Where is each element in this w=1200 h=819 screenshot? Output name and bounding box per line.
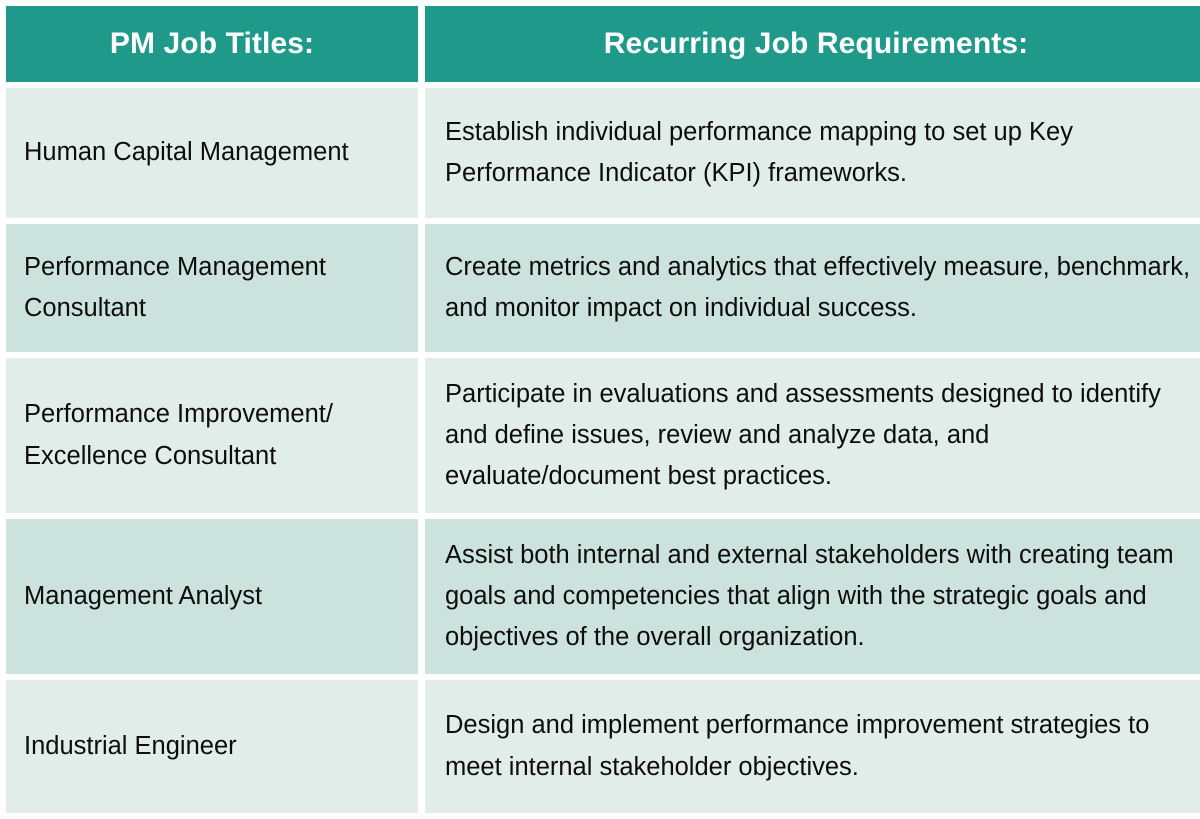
table-body: Human Capital Management Establish indiv… (6, 88, 1200, 813)
table-row: Human Capital Management Establish indiv… (6, 88, 1200, 218)
cell-job-requirement: Establish individual performance mapping… (425, 88, 1200, 218)
column-header-job-titles: PM Job Titles: (6, 6, 418, 82)
job-requirements-table-container: PM Job Titles: Recurring Job Requirement… (0, 0, 1200, 804)
cell-job-title: Performance Management Consultant (6, 224, 418, 352)
table-row: Management Analyst Assist both internal … (6, 519, 1200, 674)
cell-job-requirement: Assist both internal and external stakeh… (425, 519, 1200, 674)
cell-job-title: Performance Improvement/ Excellence Cons… (6, 358, 418, 513)
cell-job-title: Human Capital Management (6, 88, 418, 218)
cell-job-title: Management Analyst (6, 519, 418, 674)
cell-job-requirement: Design and implement performance improve… (425, 680, 1200, 813)
cell-job-requirement: Create metrics and analytics that effect… (425, 224, 1200, 352)
cell-job-title: Industrial Engineer (6, 680, 418, 813)
table-row: Performance Improvement/ Excellence Cons… (6, 358, 1200, 513)
table-header-row: PM Job Titles: Recurring Job Requirement… (6, 6, 1200, 82)
table-row: Performance Management Consultant Create… (6, 224, 1200, 352)
job-requirements-table: PM Job Titles: Recurring Job Requirement… (0, 0, 1200, 819)
cell-job-requirement: Participate in evaluations and assessmen… (425, 358, 1200, 513)
table-row: Industrial Engineer Design and implement… (6, 680, 1200, 813)
column-header-job-requirements: Recurring Job Requirements: (425, 6, 1200, 82)
table-header: PM Job Titles: Recurring Job Requirement… (6, 6, 1200, 82)
